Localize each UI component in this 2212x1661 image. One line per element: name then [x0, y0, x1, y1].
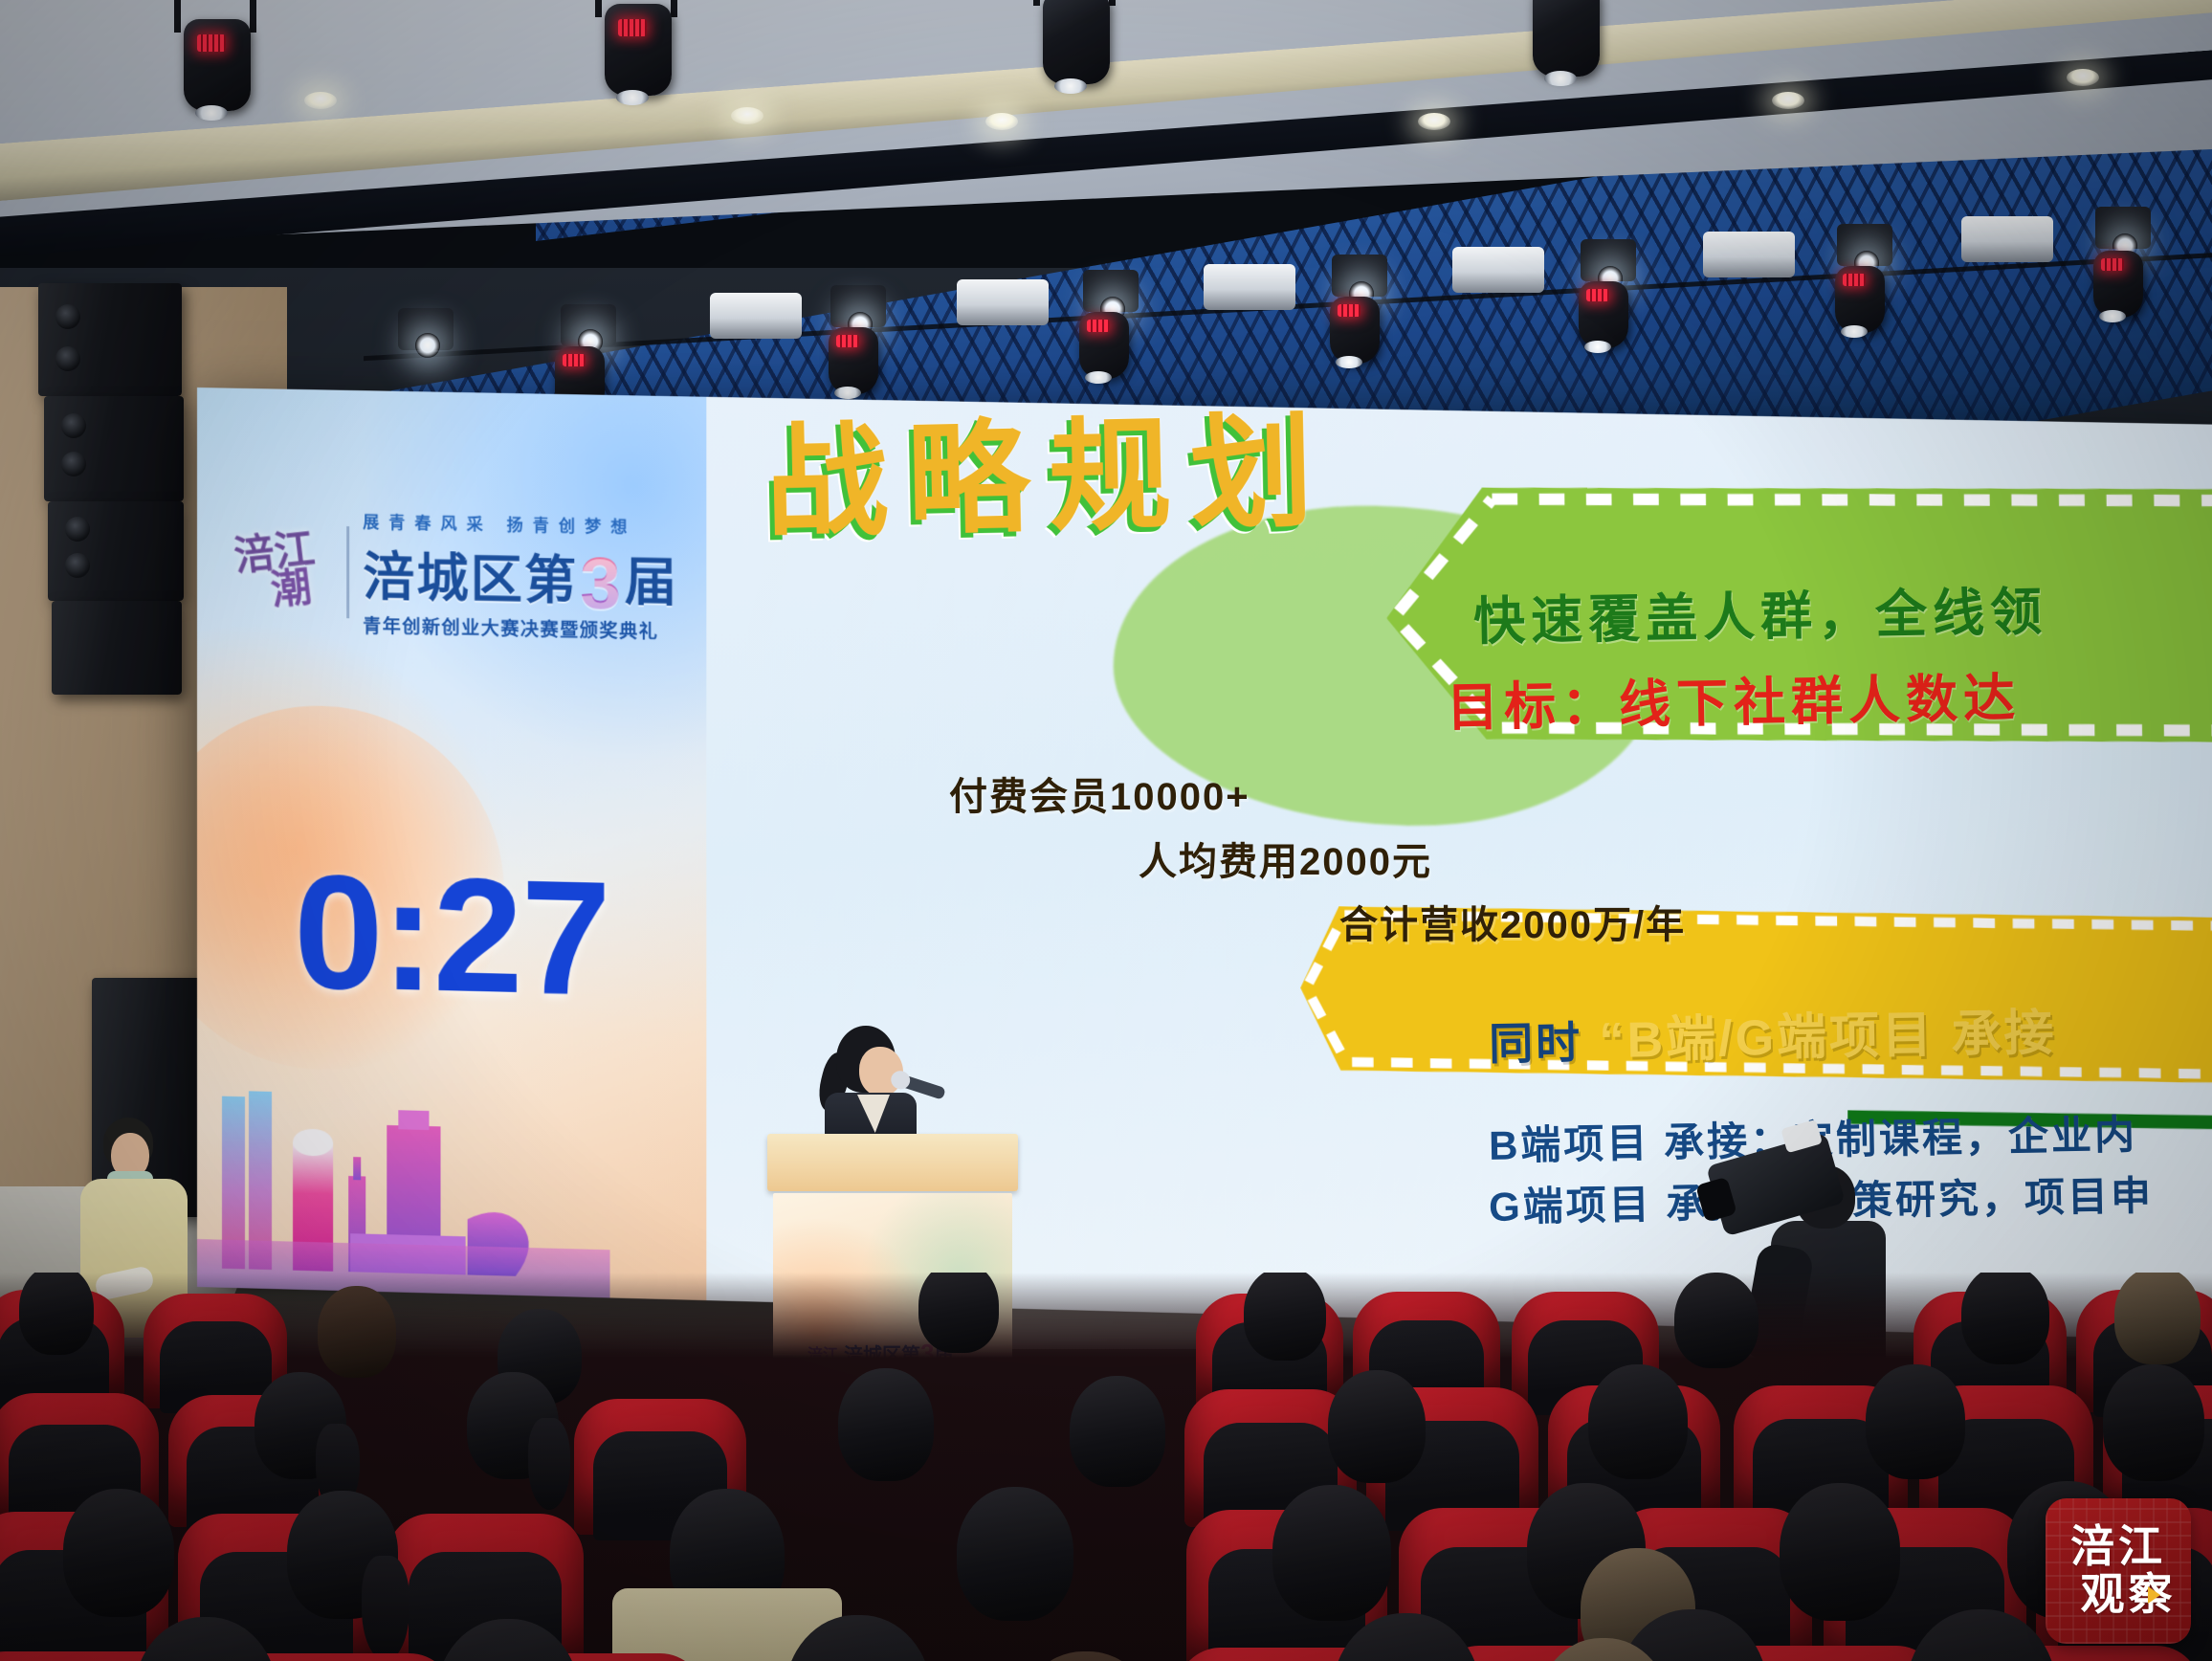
- truss-fixture: [1204, 264, 1295, 310]
- recessed-downlight: [304, 92, 337, 109]
- audience-head: [1014, 1651, 1158, 1661]
- speaker-cone: [61, 413, 86, 438]
- spotlight-led-display: [836, 335, 859, 347]
- recessed-downlight: [1418, 113, 1450, 130]
- spotlight-body: [184, 19, 251, 111]
- audience-head: [957, 1487, 1073, 1621]
- watermark-line-1: 涪江: [2070, 1523, 2166, 1571]
- publisher-watermark: 涪江 观察: [2046, 1498, 2191, 1644]
- blue-banner-heading: 同时 “B端/G端项目 承接: [1488, 992, 2057, 1074]
- spotlight-led-display: [1338, 304, 1360, 317]
- watermark-line-2: 观察: [2081, 1571, 2157, 1619]
- audience-seating: [0, 1273, 2212, 1661]
- event-tagline: 展青春风采 扬青创梦想: [363, 508, 678, 539]
- recessed-downlight: [2067, 69, 2099, 86]
- audience-head: [19, 1273, 94, 1355]
- light-beam-glow: [415, 333, 440, 358]
- truss-fixture: [957, 279, 1049, 325]
- recessed-downlight: [1772, 92, 1804, 109]
- green-banner-line-2: 目标：线下社群人数达: [1446, 655, 2021, 741]
- audience-head: [1070, 1376, 1165, 1487]
- audience-head: [2114, 1273, 2201, 1364]
- truss-fixture: [1961, 216, 2053, 262]
- event-title-suffix: 届: [625, 539, 678, 615]
- event-title-main: 涪城区第 3 届: [363, 534, 678, 616]
- logo-divider: [346, 526, 349, 618]
- audience-head: [1961, 1273, 2049, 1364]
- event-edition-number: 3: [580, 554, 623, 614]
- truss-fixture: [1452, 247, 1544, 293]
- watermark-text-2: 观察: [2081, 1571, 2177, 1619]
- line-array-speaker: [44, 396, 184, 501]
- line-array-speaker: [38, 283, 182, 396]
- spotlight-lens: [616, 90, 649, 105]
- event-subtitle: 青年创新创业大赛决赛暨颁奖典礼: [363, 611, 678, 644]
- slide-title: 战略规划: [763, 372, 1334, 561]
- play-triangle-icon: [2148, 1586, 2160, 1604]
- speaker-cone: [65, 553, 90, 578]
- spotlight-led-display: [197, 34, 226, 52]
- audience-head: [838, 1368, 934, 1481]
- spotlight-body: [1533, 0, 1600, 77]
- spotlight-lens: [195, 105, 228, 121]
- spotlight-led-display: [1087, 320, 1110, 332]
- spotlight-body: [605, 4, 672, 96]
- brand-seal-calligraphy: 涪江 潮: [216, 527, 338, 614]
- audience-head: [1272, 1485, 1391, 1621]
- audience-head: [918, 1273, 999, 1353]
- yellow-banner-line-2: 人均费用2000元: [1139, 830, 1432, 886]
- audience-head: [1866, 1364, 1965, 1479]
- spotlight-body: [1043, 0, 1110, 84]
- spotlight-led-display: [618, 19, 647, 36]
- blue-banner-heading-prefix: 同时: [1489, 1017, 1583, 1069]
- speaker-cone: [55, 304, 80, 329]
- spotlight-led-display: [1843, 274, 1866, 286]
- city-skyline-graphic: [197, 1086, 610, 1298]
- spotlight-lens: [1054, 78, 1087, 94]
- spotlight-led-display: [1586, 289, 1609, 301]
- podium-top: [767, 1134, 1018, 1191]
- spotlight-lens: [1584, 341, 1611, 353]
- line-array-speaker: [52, 601, 182, 695]
- recessed-downlight: [985, 113, 1018, 130]
- speaker-cone: [55, 346, 80, 371]
- yellow-banner-line-3: 合计营收2000万/年: [1339, 894, 1686, 949]
- spotlight-lens: [1544, 71, 1577, 86]
- event-branding-panel: 涪江 潮 展青春风采 扬青创梦想 涪城区第 3 届 青年创新创业大赛决赛暨颁奖典…: [197, 388, 706, 1300]
- countdown-timer: 0:27: [226, 838, 677, 1033]
- truss-fixture: [710, 293, 802, 339]
- green-banner-line-1: 快速覆盖人群，全线领: [1472, 569, 2047, 654]
- audience-head: [318, 1286, 396, 1378]
- spotlight-led-display: [2101, 258, 2124, 271]
- audience-head: [1328, 1370, 1426, 1483]
- yellow-banner-line-1: 付费会员10000+: [949, 765, 1250, 821]
- logo-text-block: 展青春风采 扬青创梦想 涪城区第 3 届 青年创新创业大赛决赛暨颁奖典礼: [363, 508, 678, 644]
- recessed-downlight: [731, 107, 763, 124]
- audience-head: [1244, 1273, 1326, 1361]
- audience-head: [63, 1489, 174, 1617]
- speaker-cone: [65, 517, 90, 542]
- event-title-prefix: 涪城区第: [363, 534, 578, 614]
- presenter-at-podium: [819, 1026, 943, 1150]
- speaker-cone: [61, 452, 86, 476]
- screenshot-root: 涪江 潮 展青春风采 扬青创梦想 涪城区第 3 届 青年创新创业大赛决赛暨颁奖典…: [0, 0, 2212, 1661]
- audience-ponytail: [362, 1556, 409, 1661]
- audience-head: [2103, 1364, 2204, 1481]
- spotlight-lens: [2099, 310, 2126, 322]
- event-logo: 涪江 潮 展青春风采 扬青创梦想 涪城区第 3 届 青年创新创业大赛决赛暨颁奖典…: [220, 502, 681, 646]
- blue-banner-heading-text: “B端/G端项目 承接: [1599, 1006, 2057, 1069]
- truss-fixture: [1703, 232, 1795, 277]
- audience-head: [1674, 1273, 1759, 1368]
- line-array-speaker: [48, 501, 184, 601]
- audience-ponytail: [528, 1418, 570, 1510]
- spotlight-lens: [1336, 356, 1362, 368]
- spotlight-led-display: [563, 354, 586, 366]
- spotlight-lens: [1841, 325, 1868, 338]
- audience-head: [1588, 1364, 1688, 1479]
- audience-head: [1780, 1483, 1900, 1621]
